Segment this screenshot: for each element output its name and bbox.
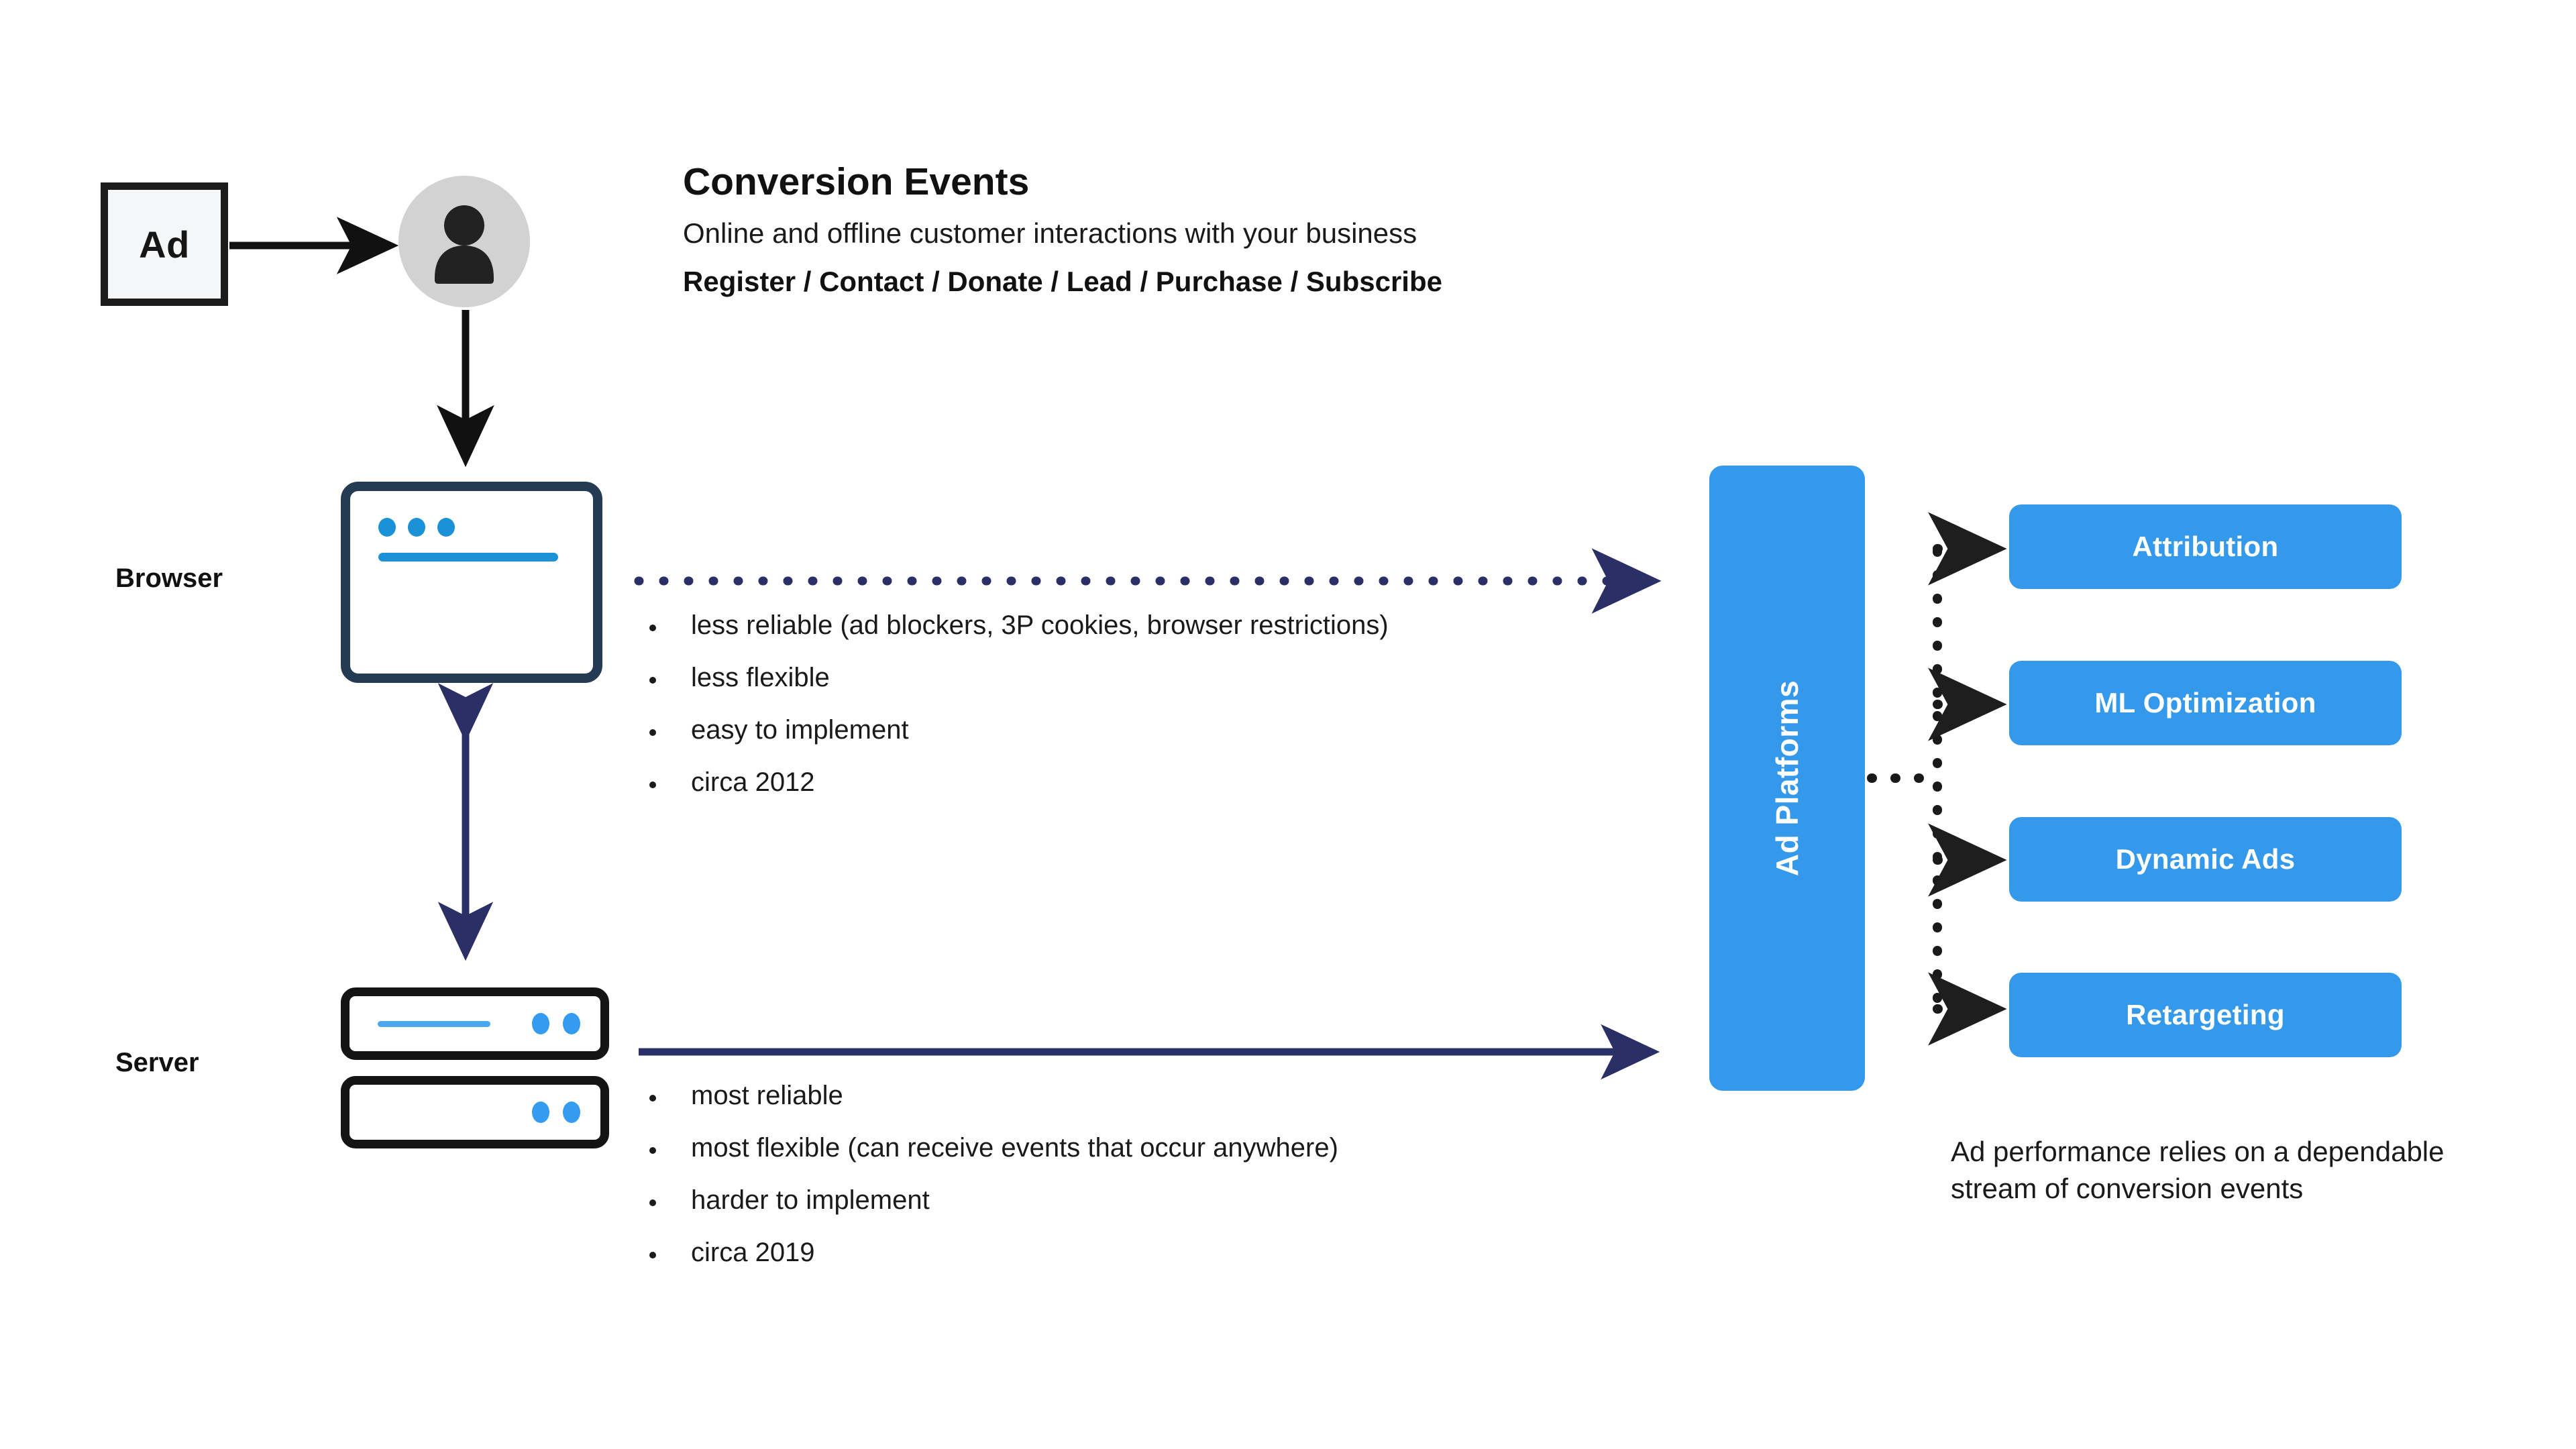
footnote-caption: Ad performance relies on a dependable st…: [1951, 1134, 2461, 1207]
server-led-2: [563, 1013, 580, 1034]
server-led-3: [532, 1102, 549, 1123]
list-item: easy to implement: [645, 716, 1389, 743]
server-unit-top: [341, 987, 609, 1060]
outcome-pill-dynamic-ads[interactable]: Dynamic Ads: [2009, 817, 2402, 902]
browser-dot-1: [378, 518, 396, 537]
ad-square-icon: Ad: [101, 182, 228, 306]
ad-box-label: Ad: [139, 223, 190, 266]
diagram-canvas: Ad Browser Server Conversion Events Onli…: [0, 0, 2576, 1449]
list-item: circa 2019: [645, 1239, 1338, 1266]
outcome-pill-label: ML Optimization: [2094, 687, 2316, 719]
wire-ad-platforms-branch-trunk: [1872, 551, 1939, 1008]
outcome-pill-attribution[interactable]: Attribution: [2009, 504, 2402, 589]
list-item: circa 2012: [645, 769, 1389, 796]
headline-block: Conversion Events Online and offline cus…: [683, 161, 1770, 299]
outcome-pill-label: Attribution: [2133, 531, 2279, 563]
row-label-server: Server: [115, 1048, 199, 1078]
outcome-pill-label: Dynamic Ads: [2116, 843, 2296, 875]
browser-dot-2: [408, 518, 425, 537]
browser-address-bar: [378, 553, 558, 561]
list-item: most reliable: [645, 1082, 1338, 1109]
server-led-4: [563, 1102, 580, 1123]
server-status-bar: [378, 1021, 490, 1027]
server-unit-bottom: [341, 1076, 609, 1148]
user-avatar-icon: [398, 176, 530, 307]
outcome-pill-ml-optimization[interactable]: ML Optimization: [2009, 661, 2402, 745]
browser-bullet-list: less reliable (ad blockers, 3P cookies, …: [645, 612, 1389, 821]
server-rack-icon: [341, 987, 609, 1155]
row-label-browser: Browser: [115, 563, 223, 594]
outcome-pill-retargeting[interactable]: Retargeting: [2009, 973, 2402, 1057]
browser-window-icon: [341, 482, 602, 683]
page-subtitle: Online and offline customer interactions…: [683, 217, 1770, 250]
browser-dot-3: [437, 518, 455, 537]
list-item: most flexible (can receive events that o…: [645, 1134, 1338, 1161]
ad-platforms-label: Ad Platforms: [1769, 680, 1805, 876]
server-led-1: [532, 1013, 549, 1034]
list-item: less reliable (ad blockers, 3P cookies, …: [645, 612, 1389, 639]
list-item: less flexible: [645, 664, 1389, 691]
event-type-list: Register / Contact / Donate / Lead / Pur…: [683, 265, 1770, 299]
page-title: Conversion Events: [683, 161, 1770, 203]
list-item: harder to implement: [645, 1187, 1338, 1214]
ad-platforms-panel[interactable]: Ad Platforms: [1709, 466, 1865, 1091]
server-bullet-list: most reliable most flexible (can receive…: [645, 1082, 1338, 1291]
outcome-pill-label: Retargeting: [2126, 999, 2285, 1031]
